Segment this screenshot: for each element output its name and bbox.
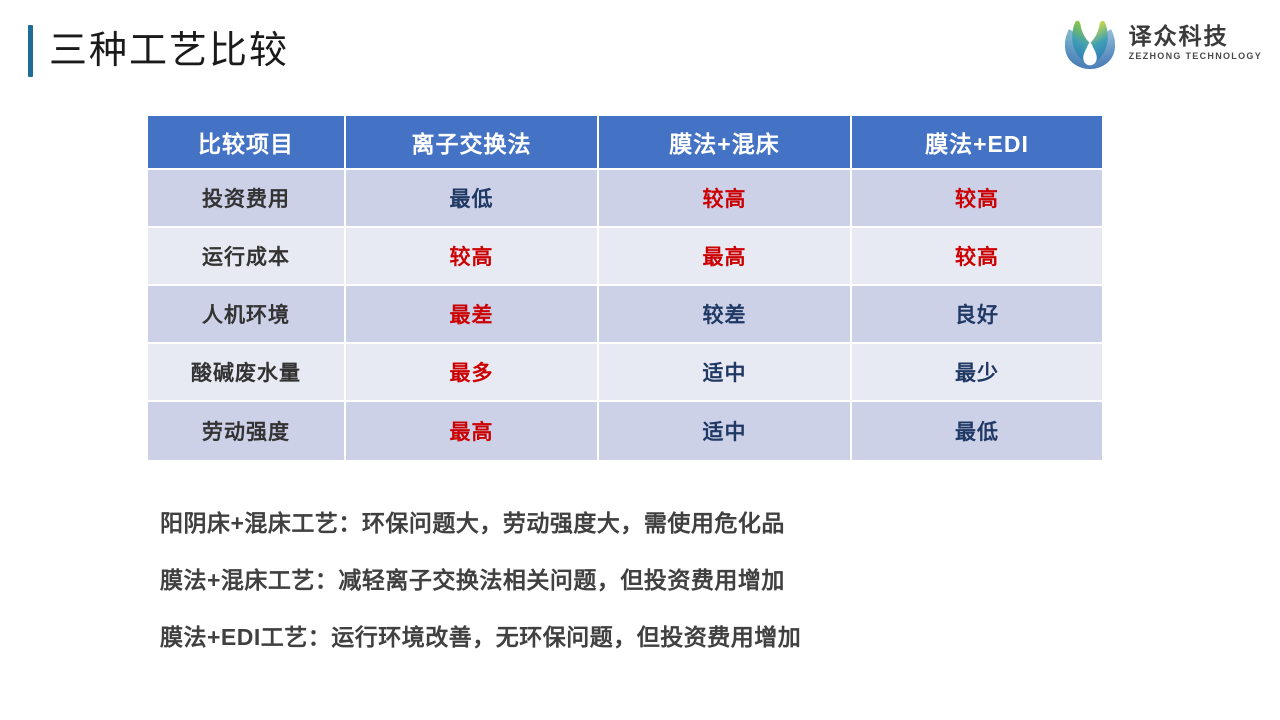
cell-value: 较高 <box>852 170 1102 228</box>
table-body: 投资费用 最低 较高 较高 运行成本 较高 最高 较高 人机环境 最差 较差 良… <box>148 170 1102 460</box>
cell-value: 较差 <box>599 286 852 344</box>
column-header-criteria: 比较项目 <box>148 116 346 170</box>
table-row: 劳动强度 最高 适中 最低 <box>148 402 1102 460</box>
cell-value: 最多 <box>346 344 599 402</box>
table-header-row: 比较项目 离子交换法 膜法+混床 膜法+EDI <box>148 116 1102 170</box>
note-line-ion-exchange: 阳阴床+混床工艺：环保问题大，劳动强度大，需使用危化品 <box>160 495 1160 552</box>
process-comparison-table: 比较项目 离子交换法 膜法+混床 膜法+EDI 投资费用 最低 较高 较高 运行… <box>148 116 1102 460</box>
table-row: 投资费用 最低 较高 较高 <box>148 170 1102 228</box>
cell-value: 最高 <box>599 228 852 286</box>
column-header-membrane-edi: 膜法+EDI <box>852 116 1102 170</box>
page-title: 三种工艺比较 <box>28 22 289 80</box>
column-header-ion-exchange: 离子交换法 <box>346 116 599 170</box>
table-row: 运行成本 较高 最高 较高 <box>148 228 1102 286</box>
cell-value: 良好 <box>852 286 1102 344</box>
summary-notes: 阳阴床+混床工艺：环保问题大，劳动强度大，需使用危化品 膜法+混床工艺：减轻离子… <box>160 495 1160 666</box>
logo-wordmark: 译众科技 ZEZHONG TECHNOLOGY <box>1129 24 1262 63</box>
table-row: 酸碱废水量 最多 适中 最少 <box>148 344 1102 402</box>
note-line-membrane-mixed-bed: 膜法+混床工艺：减轻离子交换法相关问题，但投资费用增加 <box>160 552 1160 609</box>
cell-value: 较高 <box>852 228 1102 286</box>
brand-logo: 译众科技 ZEZHONG TECHNOLOGY <box>1059 10 1262 76</box>
lotus-leaf-droplet-icon <box>1059 14 1121 72</box>
note-line-membrane-edi: 膜法+EDI工艺：运行环境改善，无环保问题，但投资费用增加 <box>160 609 1160 666</box>
logo-name-en: ZEZHONG TECHNOLOGY <box>1129 51 1262 63</box>
cell-value: 最差 <box>346 286 599 344</box>
cell-value: 最低 <box>852 402 1102 460</box>
row-label: 劳动强度 <box>148 402 346 460</box>
cell-value: 最低 <box>346 170 599 228</box>
title-text: 三种工艺比较 <box>49 32 289 70</box>
row-label: 投资费用 <box>148 170 346 228</box>
table-row: 人机环境 最差 较差 良好 <box>148 286 1102 344</box>
cell-value: 最高 <box>346 402 599 460</box>
cell-value: 适中 <box>599 402 852 460</box>
row-label: 酸碱废水量 <box>148 344 346 402</box>
column-header-membrane-mixed-bed: 膜法+混床 <box>599 116 852 170</box>
title-accent-bar <box>28 25 33 77</box>
cell-value: 较高 <box>599 170 852 228</box>
logo-name-cn: 译众科技 <box>1129 24 1262 49</box>
table-header: 比较项目 离子交换法 膜法+混床 膜法+EDI <box>148 116 1102 170</box>
cell-value: 最少 <box>852 344 1102 402</box>
slide-canvas: 三种工艺比较 <box>0 0 1280 720</box>
cell-value: 适中 <box>599 344 852 402</box>
cell-value: 较高 <box>346 228 599 286</box>
row-label: 运行成本 <box>148 228 346 286</box>
row-label: 人机环境 <box>148 286 346 344</box>
